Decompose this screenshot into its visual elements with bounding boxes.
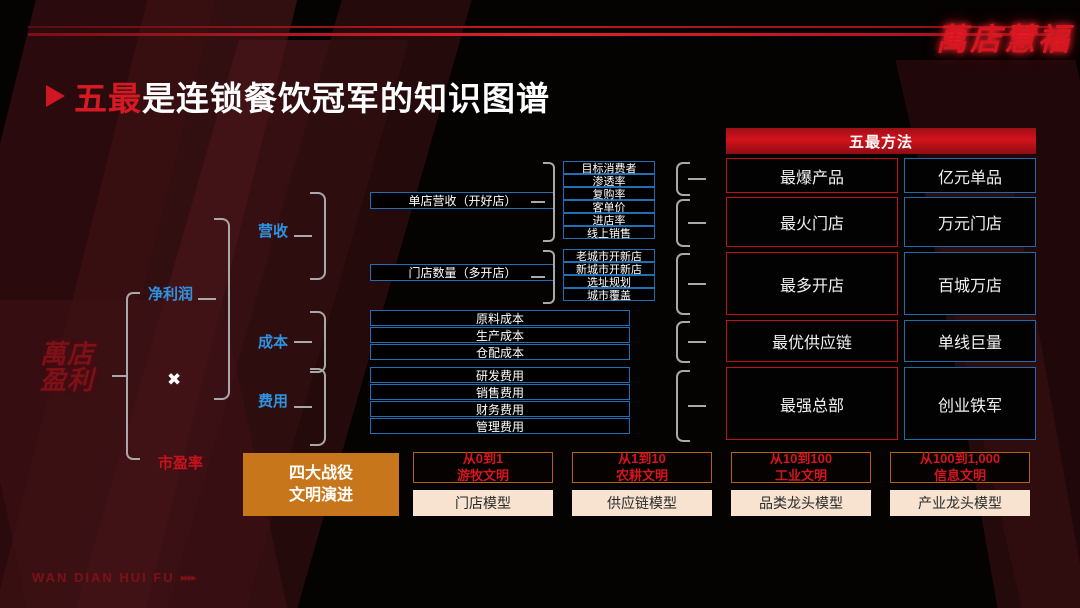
footer-brand-text: WAN DIAN HUI FU — [32, 570, 175, 585]
tree-box-single-store-revenue[interactable]: 单店营收（开好店） — [370, 192, 555, 209]
list-item[interactable]: 线上销售 — [563, 226, 655, 239]
stage-range: 从100到1,000 — [920, 451, 1000, 467]
method-cell-left[interactable]: 最优供应链 — [726, 320, 898, 362]
bracket-root — [126, 292, 140, 460]
bracket-expense-stem — [294, 406, 312, 408]
list-item[interactable]: 城市覆盖 — [563, 288, 655, 301]
stage-era: 游牧文明 — [457, 468, 509, 484]
bracket-net-profit — [214, 218, 230, 400]
connector-stem-4 — [688, 341, 706, 343]
list-item[interactable]: 原料成本 — [370, 310, 630, 326]
header-rule-bottom — [28, 33, 1052, 36]
method-cell-left[interactable]: 最强总部 — [726, 367, 898, 440]
stage-model-box[interactable]: 供应链模型 — [572, 490, 712, 516]
page-title-highlight: 五最 — [74, 72, 142, 120]
stage-era-box[interactable]: 从100到1,000 信息文明 — [890, 452, 1030, 483]
stage-model-box[interactable]: 品类龙头模型 — [731, 490, 871, 516]
header-rule-top — [28, 26, 1052, 28]
stage-range: 从0到1 — [463, 451, 503, 467]
list-item[interactable]: 销售费用 — [370, 384, 630, 400]
method-cell-right[interactable]: 亿元单品 — [904, 158, 1036, 193]
tree-node-expense: 费用 — [258, 390, 288, 411]
multiply-operator: ✖ — [167, 370, 181, 390]
bracket-revenue — [310, 192, 326, 280]
bracket-expense — [310, 368, 326, 446]
method-cell-right[interactable]: 万元门店 — [904, 197, 1036, 247]
bracket-revenue-stem — [294, 235, 312, 237]
tree-node-cost: 成本 — [258, 331, 288, 352]
list-item[interactable]: 研发费用 — [370, 367, 630, 383]
footer-arrows-icon: ▸▸▸▸ — [181, 571, 195, 584]
connector-stem-1 — [688, 178, 706, 180]
method-cell-left[interactable]: 最火门店 — [726, 197, 898, 247]
brand-logo-left: 萬店 盈利 — [40, 342, 124, 394]
bracket-net-profit-stem — [198, 298, 216, 300]
four-campaigns-line2: 文明演进 — [289, 485, 353, 507]
stage-range: 从1到10 — [618, 451, 666, 467]
footer-brand: WAN DIAN HUI FU ▸▸▸▸ — [32, 570, 195, 585]
page-title: 五最 是连锁餐饮冠军的知识图谱 — [46, 72, 550, 120]
tree-box-store-count[interactable]: 门店数量（多开店） — [370, 264, 555, 281]
stage-era: 农耕文明 — [616, 468, 668, 484]
tree-node-pe-ratio: 市盈率 — [158, 452, 203, 473]
list-item[interactable]: 财务费用 — [370, 401, 630, 417]
stage-era-box[interactable]: 从0到1 游牧文明 — [413, 452, 553, 483]
bracket-root-stem — [112, 375, 128, 377]
method-cell-left[interactable]: 最爆产品 — [726, 158, 898, 193]
bracket-single-store-stem — [531, 201, 545, 203]
methods-panel-header: 五最方法 — [726, 128, 1036, 154]
list-item[interactable]: 管理费用 — [370, 418, 630, 434]
stage-model-box[interactable]: 产业龙头模型 — [890, 490, 1030, 516]
method-cell-left[interactable]: 最多开店 — [726, 252, 898, 315]
bracket-store-count-stem — [531, 276, 545, 278]
brand-logo-left-line1: 萬店 — [40, 342, 124, 368]
page-title-rest: 是连锁餐饮冠军的知识图谱 — [142, 72, 550, 120]
stage-range: 从10到100 — [770, 451, 832, 467]
four-campaigns-line1: 四大战役 — [289, 463, 353, 485]
connector-stem-3 — [688, 283, 706, 285]
connector-stem-5 — [688, 405, 706, 407]
method-cell-right[interactable]: 百城万店 — [904, 252, 1036, 315]
bracket-cost-stem — [294, 341, 312, 343]
tree-node-revenue: 营收 — [258, 220, 288, 241]
stage-era-box[interactable]: 从1到10 农耕文明 — [572, 452, 712, 483]
list-item[interactable]: 生产成本 — [370, 327, 630, 343]
method-cell-right[interactable]: 单线巨量 — [904, 320, 1036, 362]
triangle-bullet-icon — [46, 85, 65, 107]
four-campaigns-box[interactable]: 四大战役 文明演进 — [243, 453, 399, 516]
stage-model-box[interactable]: 门店模型 — [413, 490, 553, 516]
stage-era: 信息文明 — [934, 468, 986, 484]
list-item[interactable]: 仓配成本 — [370, 344, 630, 360]
stage-era-box[interactable]: 从10到100 工业文明 — [731, 452, 871, 483]
bracket-cost — [310, 311, 326, 373]
tree-node-net-profit: 净利润 — [148, 283, 193, 304]
connector-stem-2 — [688, 222, 706, 224]
method-cell-right[interactable]: 创业铁军 — [904, 367, 1036, 440]
brand-logo-left-line2: 盈利 — [40, 368, 124, 394]
brand-logo-top-right: 萬店慧福 — [936, 14, 1072, 59]
stage-era: 工业文明 — [775, 468, 827, 484]
